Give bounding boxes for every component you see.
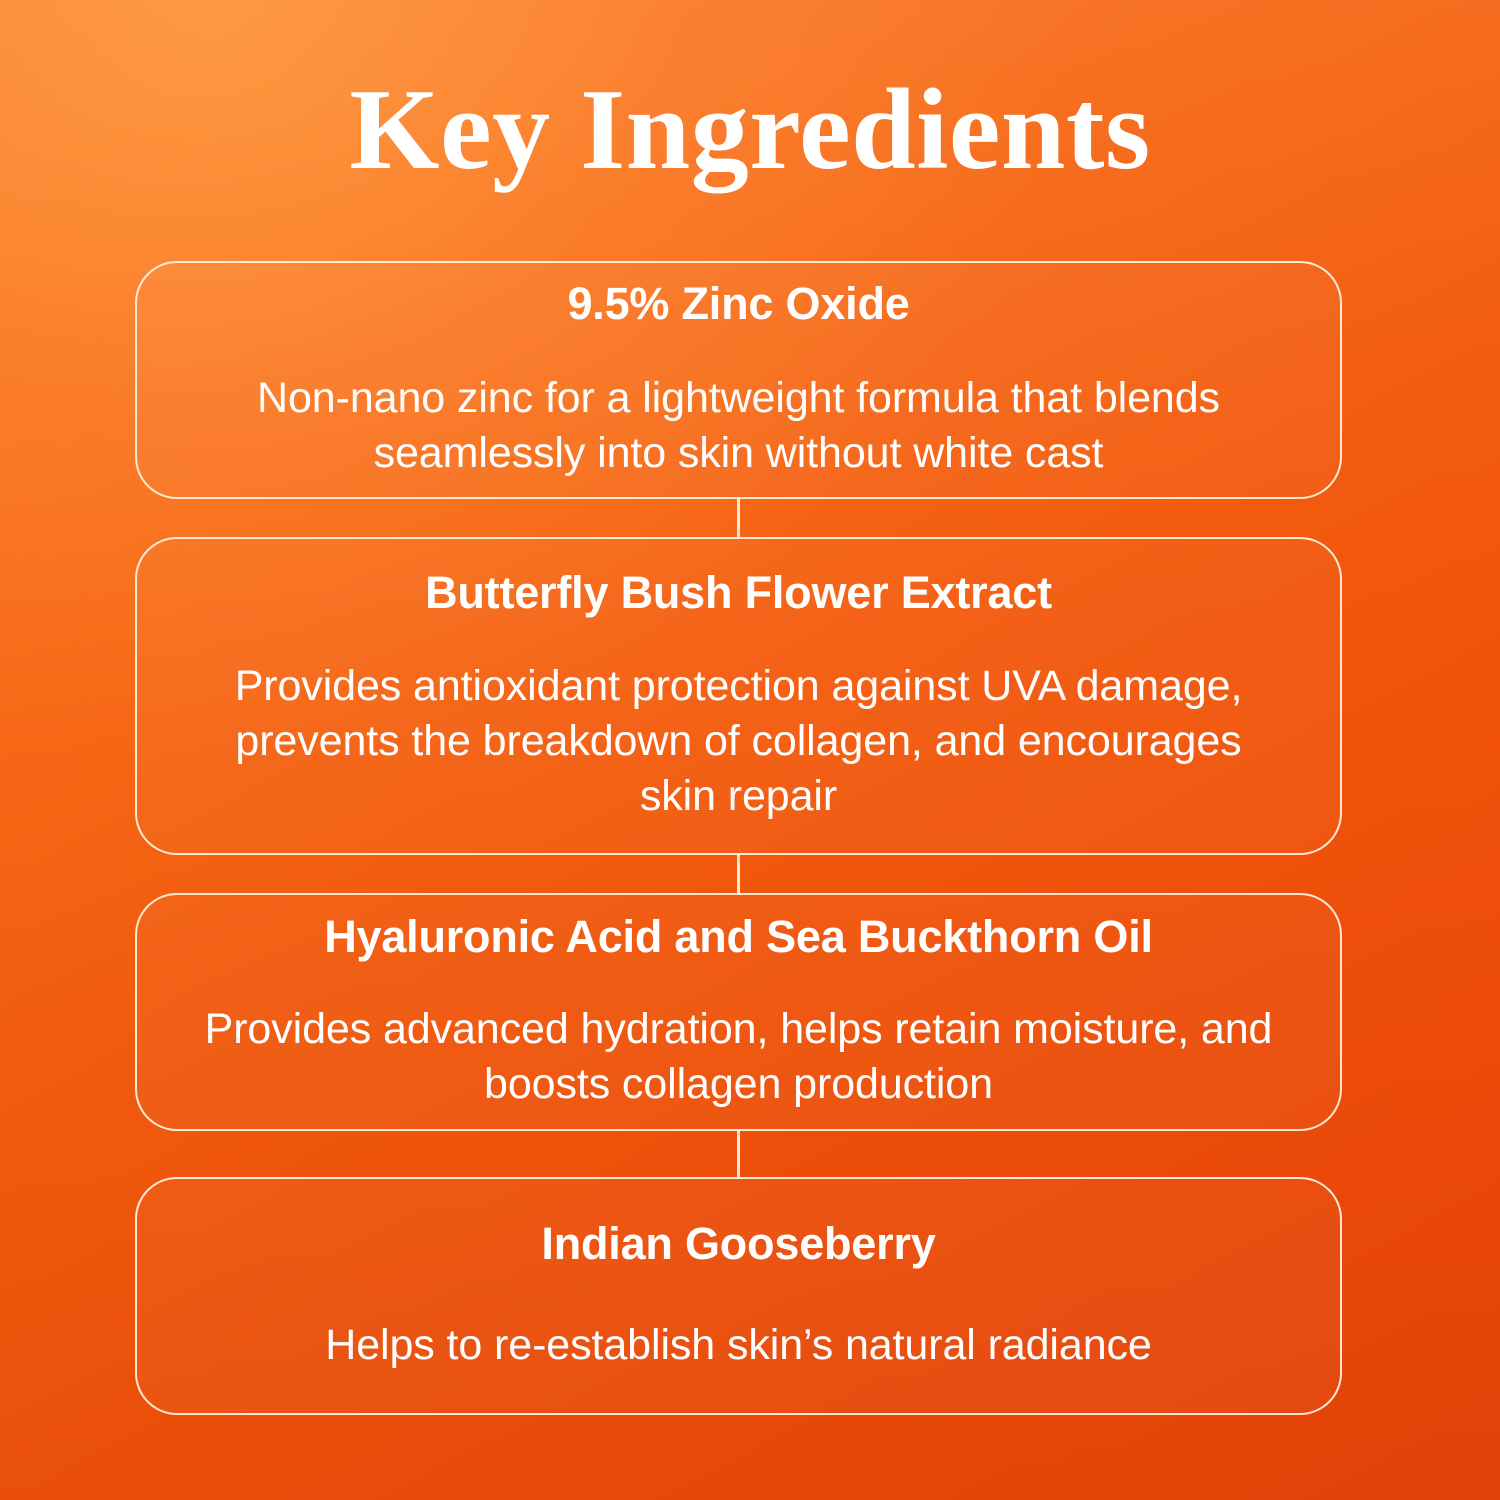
ingredient-card-zinc-oxide: 9.5% Zinc Oxide Non-nano zinc for a ligh… (135, 261, 1342, 499)
header: Key Ingredients (0, 72, 1500, 188)
ingredient-title: Indian Gooseberry (195, 1219, 1282, 1269)
ingredient-description: Helps to re-establish skin’s natural rad… (195, 1318, 1282, 1373)
ingredient-title: 9.5% Zinc Oxide (195, 279, 1282, 329)
ingredient-description: Provides advanced hydration, helps retai… (195, 1002, 1282, 1112)
ingredient-card-hyaluronic-acid-sea-buckthorn-oil: Hyaluronic Acid and Sea Buckthorn Oil Pr… (135, 893, 1342, 1131)
ingredient-title: Hyaluronic Acid and Sea Buckthorn Oil (195, 912, 1282, 962)
ingredient-description: Non-nano zinc for a lightweight formula … (195, 371, 1282, 481)
ingredient-card-indian-gooseberry: Indian Gooseberry Helps to re-establish … (135, 1177, 1342, 1415)
ingredient-description: Provides antioxidant protection against … (195, 659, 1282, 824)
card-connector-line-3 (737, 1131, 740, 1179)
ingredient-card-list: 9.5% Zinc Oxide Non-nano zinc for a ligh… (0, 0, 1500, 1500)
card-connector-line-1 (737, 499, 740, 539)
page-title: Key Ingredients (0, 72, 1500, 188)
key-ingredients-infographic: Key Ingredients 9.5% Zinc Oxide Non-nano… (0, 0, 1500, 1500)
card-connector-line-2 (737, 855, 740, 895)
ingredient-card-butterfly-bush-flower-extract: Butterfly Bush Flower Extract Provides a… (135, 537, 1342, 855)
ingredient-title: Butterfly Bush Flower Extract (195, 568, 1282, 618)
